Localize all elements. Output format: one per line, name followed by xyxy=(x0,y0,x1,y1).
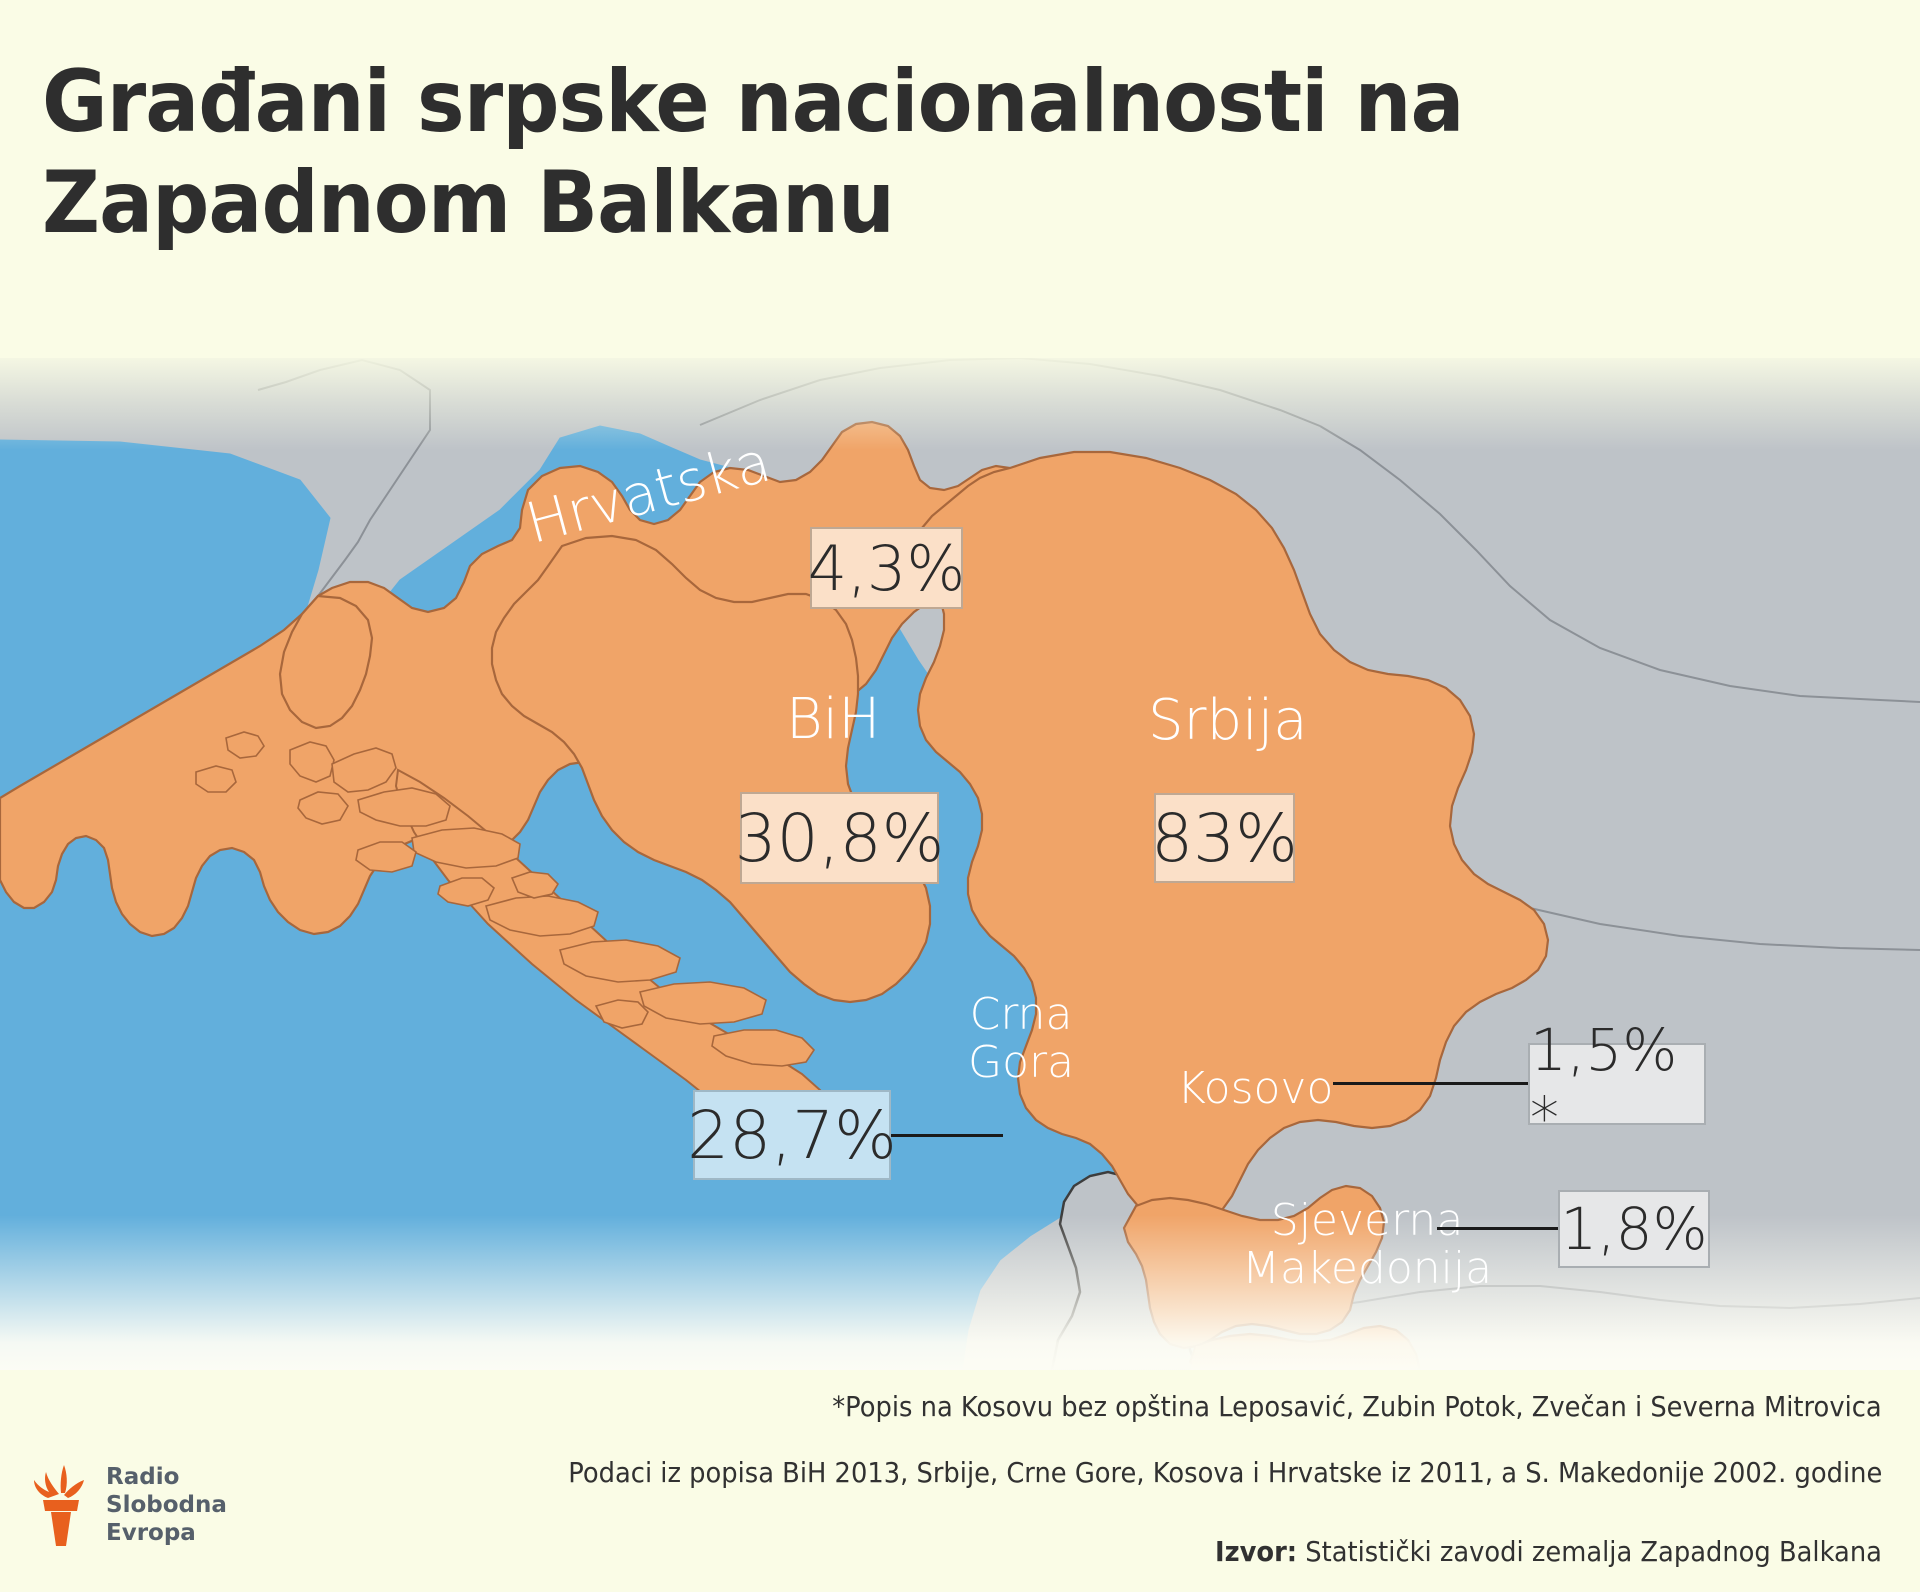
value-box-sjeverna-makedonija: 1,8% xyxy=(1558,1190,1710,1268)
page-title: Građani srpske nacionalnosti na Zapadnom… xyxy=(42,52,1642,255)
leader-line-sjeverna-makedonija xyxy=(1437,1227,1563,1230)
value-box-hrvatska: 4,3% xyxy=(810,527,963,609)
header-banner: Građani srpske nacionalnosti na Zapadnom… xyxy=(0,0,1920,358)
rfe-logo[interactable]: Radio Slobodna Evropa xyxy=(30,1455,300,1555)
torch-icon xyxy=(30,1464,92,1546)
value-box-bih: 30,8% xyxy=(740,792,939,884)
footnote-kosovo-census: *Popis na Kosovu bez opština Leposavić, … xyxy=(833,1390,1882,1423)
value-box-crna-gora: 28,7% xyxy=(693,1090,891,1180)
source-text: Statistički zavodi zemalja Zapadnog Balk… xyxy=(1305,1535,1882,1568)
source-line: Izvor: Statistički zavodi zemalja Zapadn… xyxy=(1215,1535,1882,1568)
leader-line-kosovo xyxy=(1333,1082,1533,1085)
logo-wordmark: Radio Slobodna Evropa xyxy=(106,1463,300,1547)
value-box-srbija: 83% xyxy=(1154,793,1295,883)
footnote-census-years: Podaci iz popisa BiH 2013, Srbije, Crne … xyxy=(568,1456,1882,1489)
leader-line-crna-gora xyxy=(888,1134,1003,1137)
source-label: Izvor: xyxy=(1215,1535,1297,1568)
value-box-kosovo: 1,5% * xyxy=(1528,1043,1706,1125)
